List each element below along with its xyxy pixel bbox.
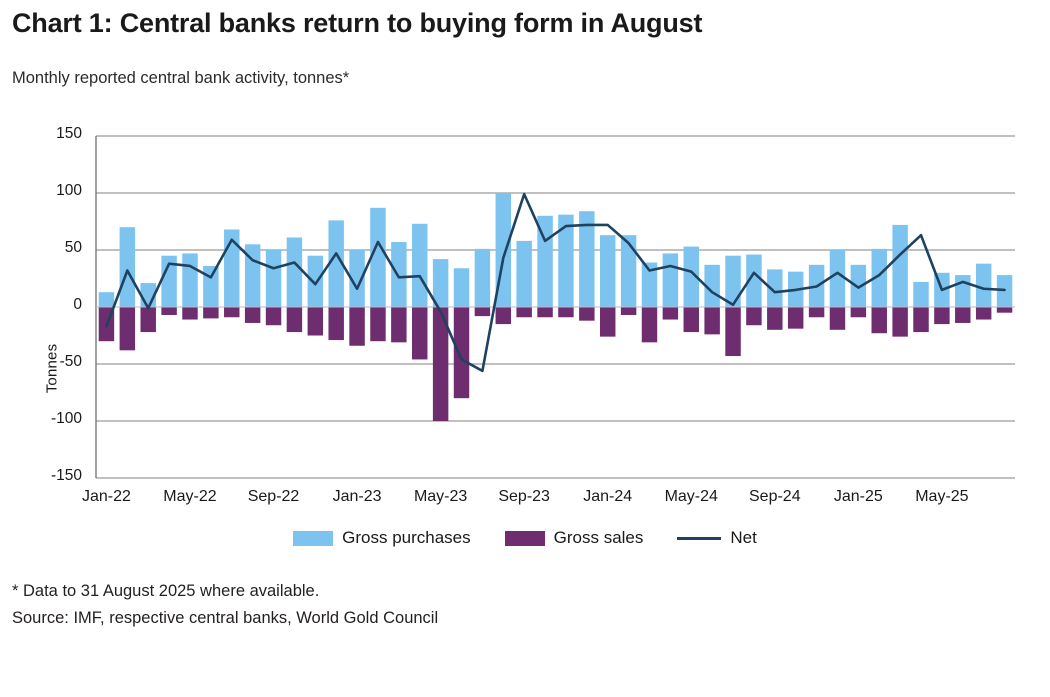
bar-gross-sales xyxy=(934,307,949,324)
bar-gross-sales xyxy=(412,307,427,359)
chart-canvas xyxy=(0,120,1050,520)
bar-gross-sales xyxy=(725,307,740,356)
x-axis-tick-label: May-22 xyxy=(163,488,216,506)
bar-gross-purchases xyxy=(516,241,531,307)
x-axis-tick-label: Sep-24 xyxy=(749,488,801,506)
x-axis-tick-label: May-25 xyxy=(915,488,968,506)
bar-gross-sales xyxy=(287,307,302,332)
bar-gross-purchases xyxy=(851,265,866,307)
bar-gross-sales xyxy=(746,307,761,325)
bar-gross-sales xyxy=(976,307,991,320)
bar-gross-purchases xyxy=(99,292,114,307)
x-axis-tick-label: Jan-22 xyxy=(82,488,131,506)
x-axis-tick-label: Jan-24 xyxy=(583,488,632,506)
bar-gross-sales xyxy=(224,307,239,317)
bar-gross-sales xyxy=(516,307,531,317)
x-axis-tick-label: Jan-23 xyxy=(333,488,382,506)
x-axis-tick-label: Sep-23 xyxy=(498,488,550,506)
bar-gross-purchases xyxy=(600,235,615,307)
bar-gross-purchases xyxy=(287,237,302,307)
legend-color-swatch xyxy=(505,531,545,546)
chart-footnotes: * Data to 31 August 2025 where available… xyxy=(12,578,812,631)
bar-gross-sales xyxy=(496,307,511,324)
bar-gross-purchases xyxy=(955,275,970,307)
chart-page: Chart 1: Central banks return to buying … xyxy=(0,0,1050,697)
bar-gross-sales xyxy=(872,307,887,333)
bar-gross-sales xyxy=(809,307,824,317)
bar-gross-sales xyxy=(454,307,469,398)
bar-gross-sales xyxy=(370,307,385,341)
chart-plot-area: Tonnes 150100500-50-100-150Jan-22May-22S… xyxy=(0,120,1050,520)
bar-gross-sales xyxy=(830,307,845,330)
net-line xyxy=(106,194,1004,371)
x-axis-tick-label: Jan-25 xyxy=(834,488,883,506)
bar-gross-purchases xyxy=(391,242,406,307)
legend-item[interactable]: Gross purchases xyxy=(293,528,471,548)
bar-gross-sales xyxy=(913,307,928,332)
bar-gross-purchases xyxy=(663,253,678,307)
legend-label: Net xyxy=(730,528,756,548)
legend-label: Gross purchases xyxy=(342,528,471,548)
bar-gross-sales xyxy=(621,307,636,315)
footnote-source: Source: IMF, respective central banks, W… xyxy=(12,605,812,632)
bar-gross-sales xyxy=(704,307,719,334)
bar-gross-purchases xyxy=(412,224,427,307)
legend-color-swatch xyxy=(293,531,333,546)
bar-gross-sales xyxy=(537,307,552,317)
bar-gross-sales xyxy=(120,307,135,350)
bar-gross-sales xyxy=(182,307,197,320)
y-axis-tick-label: 100 xyxy=(30,182,82,200)
bar-gross-sales xyxy=(475,307,490,316)
x-axis-tick-label: Sep-22 xyxy=(248,488,300,506)
bar-gross-sales xyxy=(684,307,699,332)
bar-gross-purchases xyxy=(308,256,323,307)
bar-gross-sales xyxy=(663,307,678,320)
legend-line-marker xyxy=(677,537,721,540)
bar-gross-sales xyxy=(245,307,260,323)
x-axis-tick-label: May-23 xyxy=(414,488,467,506)
bar-gross-purchases xyxy=(182,253,197,307)
bar-gross-sales xyxy=(892,307,907,337)
y-axis-tick-label: 50 xyxy=(30,239,82,257)
y-axis-tick-label: -150 xyxy=(30,467,82,485)
y-axis-tick-label: 150 xyxy=(30,125,82,143)
bar-gross-sales xyxy=(558,307,573,317)
bar-gross-purchases xyxy=(203,266,218,307)
bar-gross-sales xyxy=(788,307,803,329)
bar-gross-sales xyxy=(600,307,615,337)
legend-item[interactable]: Net xyxy=(677,528,756,548)
bar-gross-purchases xyxy=(621,235,636,307)
bar-gross-purchases xyxy=(725,256,740,307)
page-title: Chart 1: Central banks return to buying … xyxy=(12,8,702,39)
footnote-data-note: * Data to 31 August 2025 where available… xyxy=(12,578,812,605)
bar-gross-purchases xyxy=(370,208,385,307)
bar-gross-purchases xyxy=(475,249,490,307)
bar-gross-sales xyxy=(642,307,657,342)
bar-gross-purchases xyxy=(454,268,469,307)
legend-label: Gross sales xyxy=(554,528,644,548)
bar-gross-purchases xyxy=(892,225,907,307)
bar-gross-sales xyxy=(140,307,155,332)
bar-gross-sales xyxy=(308,307,323,336)
bar-gross-sales xyxy=(997,307,1012,313)
bar-gross-sales xyxy=(266,307,281,325)
bar-gross-sales xyxy=(349,307,364,346)
bar-gross-sales xyxy=(203,307,218,318)
bar-gross-sales xyxy=(161,307,176,315)
bar-gross-sales xyxy=(955,307,970,323)
bar-gross-purchases xyxy=(266,250,281,307)
bar-gross-purchases xyxy=(913,282,928,307)
chart-subtitle: Monthly reported central bank activity, … xyxy=(12,69,349,88)
bar-gross-sales xyxy=(579,307,594,321)
y-axis-tick-label: -50 xyxy=(30,353,82,371)
bar-gross-purchases xyxy=(433,259,448,307)
y-axis-tick-label: 0 xyxy=(30,296,82,314)
bar-gross-sales xyxy=(328,307,343,340)
legend-item[interactable]: Gross sales xyxy=(505,528,644,548)
bar-gross-purchases xyxy=(830,250,845,307)
bar-gross-purchases xyxy=(120,227,135,307)
x-axis-tick-label: May-24 xyxy=(665,488,718,506)
y-axis-tick-label: -100 xyxy=(30,410,82,428)
bar-gross-sales xyxy=(391,307,406,342)
bar-gross-purchases xyxy=(976,264,991,307)
bar-gross-sales xyxy=(767,307,782,330)
bar-gross-sales xyxy=(851,307,866,317)
chart-legend: Gross purchasesGross salesNet xyxy=(0,528,1050,548)
